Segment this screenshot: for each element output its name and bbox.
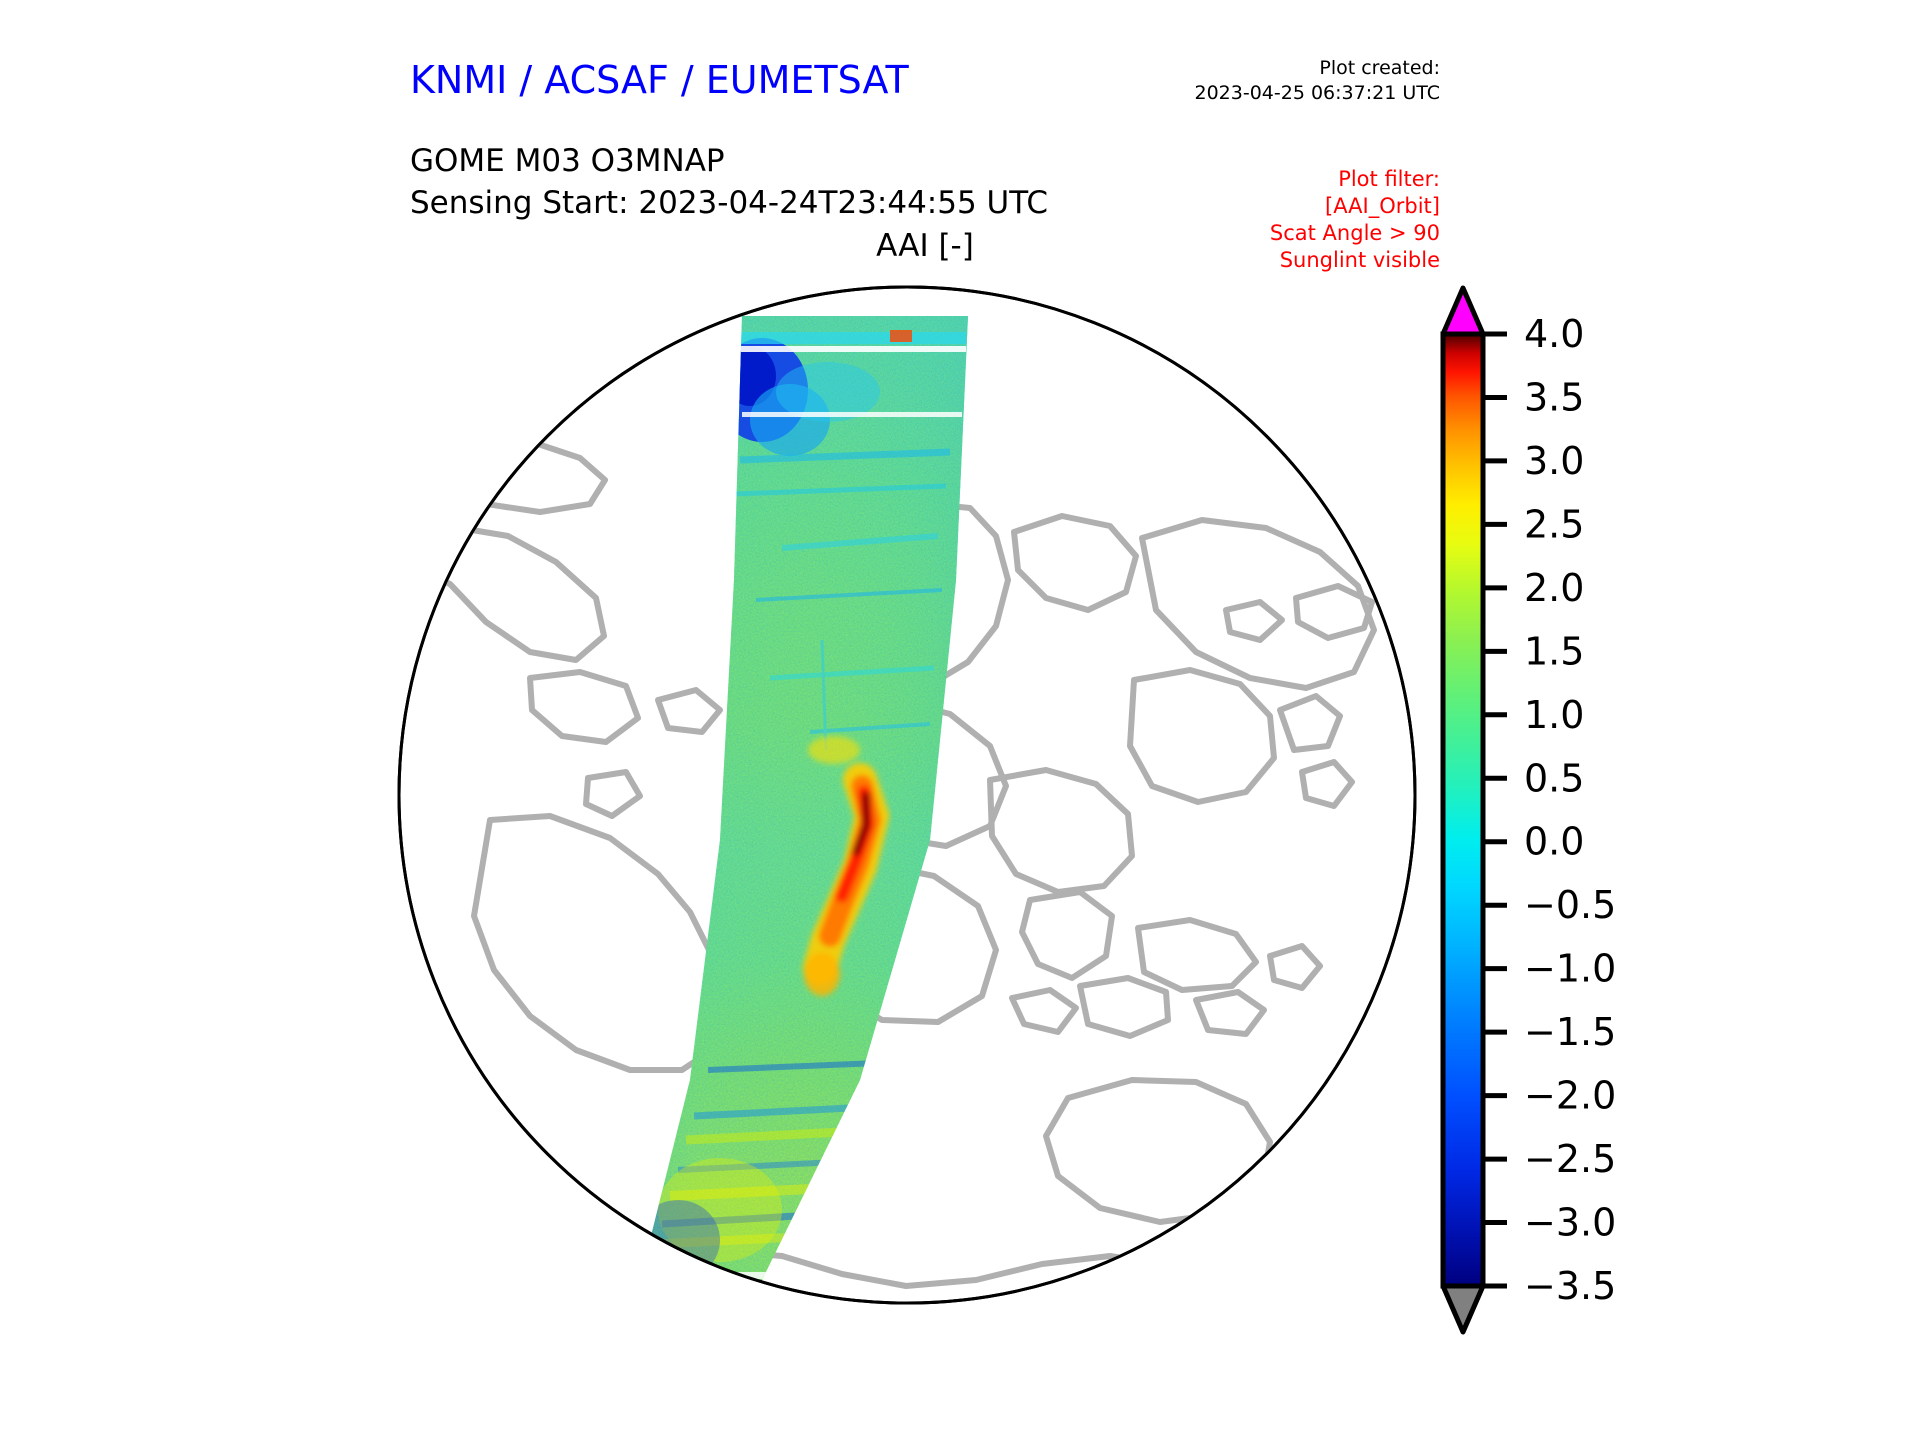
plot-filter-block: Plot filter: [AAI_Orbit] Scat Angle > 90…	[1150, 166, 1440, 274]
colorbar-tick-label: 0.0	[1524, 820, 1584, 864]
colorbar-tick-label: 3.5	[1524, 375, 1584, 419]
colorbar-tick-label: −3.0	[1524, 1201, 1616, 1245]
globe-map	[390, 280, 1430, 1320]
colorbar-over-arrow	[1443, 288, 1483, 334]
colorbar-gradient	[1443, 334, 1483, 1286]
colorbar-tick-label: −0.5	[1524, 883, 1616, 927]
colorbar-tick-label: 4.0	[1524, 312, 1584, 356]
plot-filter-line-1: [AAI_Orbit]	[1150, 193, 1440, 220]
colorbar-tick-label: 2.0	[1524, 566, 1584, 610]
colorbar-tick-label: −1.5	[1524, 1010, 1616, 1054]
plot-canvas: KNMI / ACSAF / EUMETSAT Plot created: 20…	[0, 0, 1920, 1440]
colorbar-tick-labels: 4.03.53.02.52.01.51.00.50.0−0.5−1.0−1.5−…	[1524, 312, 1616, 1308]
colorbar-tick-label: −1.0	[1524, 947, 1616, 991]
colorbar-tick-label: 2.5	[1524, 502, 1584, 546]
plot-created-label: Plot created:	[1160, 56, 1440, 81]
colorbar-tick-label: −2.0	[1524, 1074, 1616, 1118]
colorbar-under-arrow	[1443, 1286, 1483, 1332]
colorbar-svg: 4.03.53.02.52.01.51.00.50.0−0.5−1.0−1.5−…	[1432, 282, 1852, 1342]
colorbar-ticks	[1483, 334, 1507, 1286]
variable-label: AAI [-]	[760, 228, 1090, 264]
colorbar-tick-label: 0.5	[1524, 756, 1584, 800]
colorbar-tick-label: −2.5	[1524, 1137, 1616, 1181]
colorbar-tick-label: 1.5	[1524, 629, 1584, 673]
plot-filter-line-3: Sunglint visible	[1150, 247, 1440, 274]
plot-created-block: Plot created: 2023-04-25 06:37:21 UTC	[1160, 56, 1440, 106]
colorbar-tick-label: 1.0	[1524, 693, 1584, 737]
plot-created-timestamp: 2023-04-25 06:37:21 UTC	[1160, 81, 1440, 106]
organisation-title: KNMI / ACSAF / EUMETSAT	[410, 58, 909, 102]
colorbar: 4.03.53.02.52.01.51.00.50.0−0.5−1.0−1.5−…	[1432, 282, 1852, 1342]
colorbar-tick-label: 3.0	[1524, 439, 1584, 483]
dataset-title-block: GOME M03 O3MNAP Sensing Start: 2023-04-2…	[410, 140, 1048, 224]
colorbar-tick-label: −3.5	[1524, 1264, 1616, 1308]
globe-map-svg	[390, 280, 1430, 1320]
plot-filter-line-2: Scat Angle > 90	[1150, 220, 1440, 247]
instrument-product-line: GOME M03 O3MNAP	[410, 140, 1048, 182]
plot-filter-title: Plot filter:	[1150, 166, 1440, 193]
sensing-start-line: Sensing Start: 2023-04-24T23:44:55 UTC	[410, 182, 1048, 224]
